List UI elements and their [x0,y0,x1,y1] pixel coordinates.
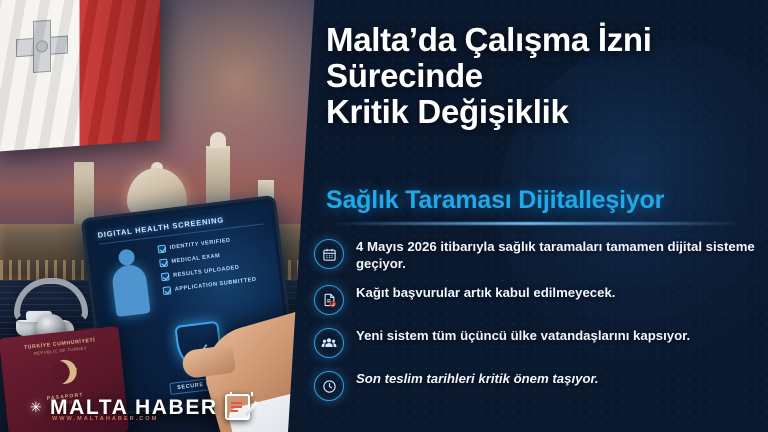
bullet-list: 4 Mayıs 2026 itibarıyla sağlık taramalar… [314,238,758,413]
screening-checklist: IDENTITY VERIFIED MEDICAL EXAM RESULTS U… [157,230,272,311]
list-item-label: Son teslim tarihleri kritik önem taşıyor… [356,370,599,388]
calendar-icon [314,239,344,269]
page-title: Malta’da Çalışma İzni Sürecinde Kritik D… [326,22,752,130]
checklist-item-label: RESULTS UPLOADED [173,265,240,279]
checklist-item-label: IDENTITY VERIFIED [169,238,231,251]
site-logo[interactable]: ✳ MALTA HABER WWW.MALTAHABER.COM [50,394,250,420]
clock-icon [314,371,344,401]
logo-url: WWW.MALTAHABER.COM [52,416,158,422]
people-group-icon [314,328,344,358]
logo-wordmark: MALTA HABER [50,397,218,418]
list-item-label: 4 Mayıs 2026 itibarıyla sağlık taramalar… [356,238,758,272]
headline-line-2: Sürecinde [326,58,752,94]
person-silhouette-icon [111,263,151,317]
checkbox-checked-icon [159,258,168,267]
list-item: Son teslim tarihleri kritik önem taşıyor… [314,370,758,401]
headline-line-3: Kritik Değişiklik [326,94,752,130]
crescent-star-icon: ★ [44,358,81,387]
list-item-label: Yeni sistem tüm üçüncü ülke vatandaşları… [356,327,690,345]
content-panel: Malta’da Çalışma İzni Sürecinde Kritik D… [288,0,768,432]
list-item: Yeni sistem tüm üçüncü ülke vatandaşları… [314,327,758,358]
list-item: Kağıt başvurular artık kabul edilmeyecek… [314,284,758,315]
checkbox-checked-icon [163,286,172,295]
checkbox-checked-icon [157,245,166,254]
notepad-pencil-icon [225,394,250,420]
headline-line-1: Malta’da Çalışma İzni [326,22,752,58]
checkbox-checked-icon [161,272,170,281]
malta-flag [0,0,160,152]
subtitle: Sağlık Taraması Dijitalleşiyor [326,186,752,214]
checklist-item-label: APPLICATION SUBMITTED [175,277,257,293]
patient-avatar [100,244,160,318]
photo-collage: DIGITAL HEALTH SCREENING IDENTITY VERIFI… [0,0,340,432]
list-item: 4 Mayıs 2026 itibarıyla sağlık taramalar… [314,238,758,272]
divider [330,222,744,225]
maltese-star-icon: ✳ [30,399,42,416]
news-graphic-poster: DIGITAL HEALTH SCREENING IDENTITY VERIFI… [0,0,768,432]
checklist-item-label: MEDICAL EXAM [171,253,220,265]
flag-fabric-shading [0,0,160,152]
list-item-label: Kağıt başvurular artık kabul edilmeyecek… [356,284,615,302]
document-blocked-icon [314,285,344,315]
